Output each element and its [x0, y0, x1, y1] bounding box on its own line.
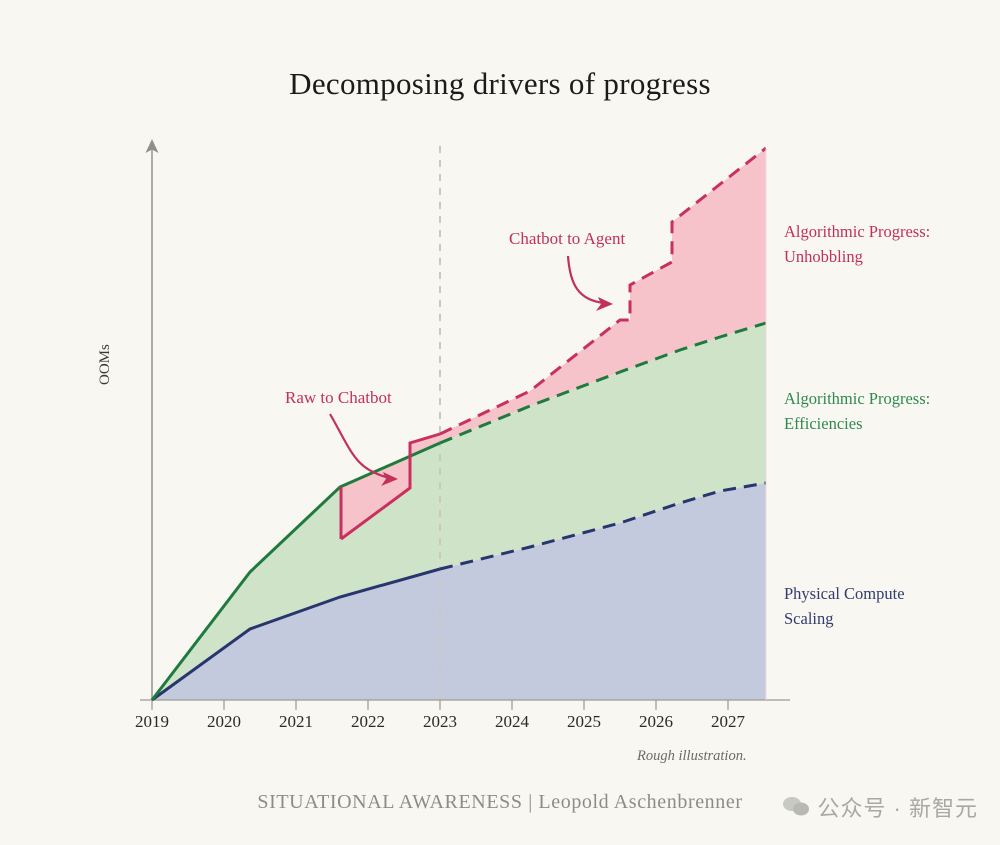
chart-page: Decomposing drivers of progress	[0, 0, 1000, 845]
x-tick-2027: 2027	[698, 712, 758, 732]
x-tick-2019: 2019	[122, 712, 182, 732]
chatbot-to-agent-arrowhead-icon	[596, 297, 613, 311]
x-tick-2026: 2026	[626, 712, 686, 732]
x-tick-2024: 2024	[482, 712, 542, 732]
legend-label-physical-compute: Physical Compute Scaling	[784, 581, 905, 631]
legend-label-compute-line1: Physical Compute	[784, 581, 905, 606]
x-tick-2023: 2023	[410, 712, 470, 732]
x-tick-2021: 2021	[266, 712, 326, 732]
watermark: 公众号 · 新智元	[781, 791, 978, 823]
x-tick-2025: 2025	[554, 712, 614, 732]
y-axis-label: OOMs	[97, 344, 114, 385]
legend-label-unhobbling: Algorithmic Progress: Unhobbling	[784, 219, 930, 269]
x-tick-2022: 2022	[338, 712, 398, 732]
legend-label-efficiencies-line1: Algorithmic Progress:	[784, 386, 930, 411]
wechat-logo-icon	[781, 796, 811, 818]
legend-label-efficiencies-line2: Efficiencies	[784, 411, 930, 436]
legend-label-unhobbling-line1: Algorithmic Progress:	[784, 219, 930, 244]
legend-label-efficiencies: Algorithmic Progress: Efficiencies	[784, 386, 930, 436]
legend-label-compute-line2: Scaling	[784, 606, 905, 631]
x-axis-ticks	[152, 700, 728, 710]
chart-note: Rough illustration.	[637, 748, 747, 765]
x-tick-2020: 2020	[194, 712, 254, 732]
legend-label-unhobbling-line2: Unhobbling	[784, 244, 930, 269]
annotation-chatbot-to-agent: Chatbot to Agent	[509, 229, 625, 249]
watermark-text: 公众号 · 新智元	[817, 791, 978, 823]
annotation-raw-to-chatbot: Raw to Chatbot	[285, 388, 392, 408]
chatbot-to-agent-arrow-icon	[568, 256, 604, 303]
